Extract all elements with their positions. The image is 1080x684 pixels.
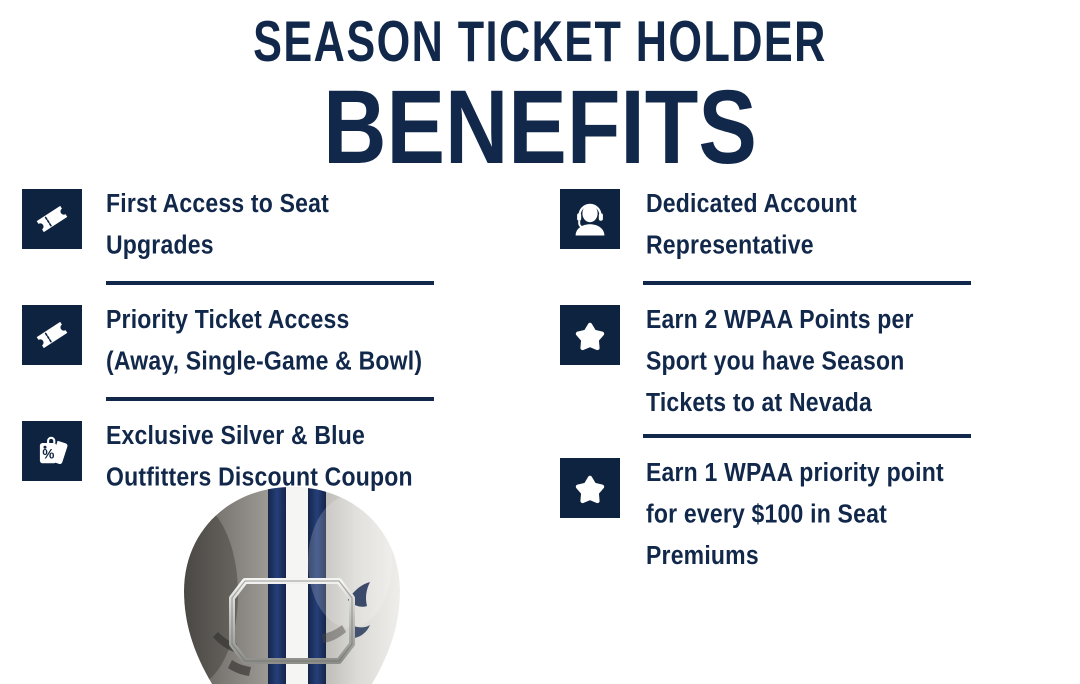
benefit-item-first-access-to-seat-upgrades: First Access to Seat Upgrades: [22, 183, 542, 257]
spacer: [22, 285, 542, 299]
benefit-label: Dedicated Account Representative: [624, 183, 857, 266]
discount-tag-icon: %: [22, 421, 82, 481]
benefit-label: Priority Ticket Access (Away, Single-Gam…: [84, 299, 422, 382]
ticket-icon: [22, 305, 82, 365]
title-line-1: SEASON TICKET HOLDER: [22, 10, 1059, 74]
page-title: SEASON TICKET HOLDER BENEFITS: [0, 0, 1080, 162]
title-line-2: BENEFITS: [0, 74, 1080, 181]
headset-person-icon: [560, 189, 620, 249]
benefit-label: Exclusive Silver & Blue Outfitters Disco…: [84, 415, 413, 498]
benefit-item-priority-ticket-access: Priority Ticket Access (Away, Single-Gam…: [22, 299, 542, 373]
benefit-item-outfitters-discount-coupon: % Exclusive Silver & Blue Outfitters Dis…: [22, 415, 542, 489]
benefit-item-earn-1-wpaa-priority-point: Earn 1 WPAA priority point for every $10…: [560, 452, 1060, 563]
spacer: [560, 438, 1060, 452]
benefits-left-column: First Access to Seat Upgrades Priority T…: [22, 183, 542, 489]
star-icon: [560, 305, 620, 365]
svg-text:%: %: [42, 447, 54, 462]
spacer: [22, 401, 542, 415]
spacer: [560, 285, 1060, 299]
ticket-icon: [22, 189, 82, 249]
nevada-football-helmet: [172, 484, 412, 684]
benefit-item-earn-2-wpaa-points: Earn 2 WPAA Points per Sport you have Se…: [560, 299, 1060, 410]
benefits-right-column: Dedicated Account Representative Earn 2 …: [560, 183, 1060, 563]
benefit-item-dedicated-account-representative: Dedicated Account Representative: [560, 183, 1060, 257]
benefit-label: Earn 2 WPAA Points per Sport you have Se…: [624, 299, 914, 423]
benefit-label: Earn 1 WPAA priority point for every $10…: [624, 452, 944, 576]
star-icon: [560, 458, 620, 518]
benefit-label: First Access to Seat Upgrades: [84, 183, 329, 266]
